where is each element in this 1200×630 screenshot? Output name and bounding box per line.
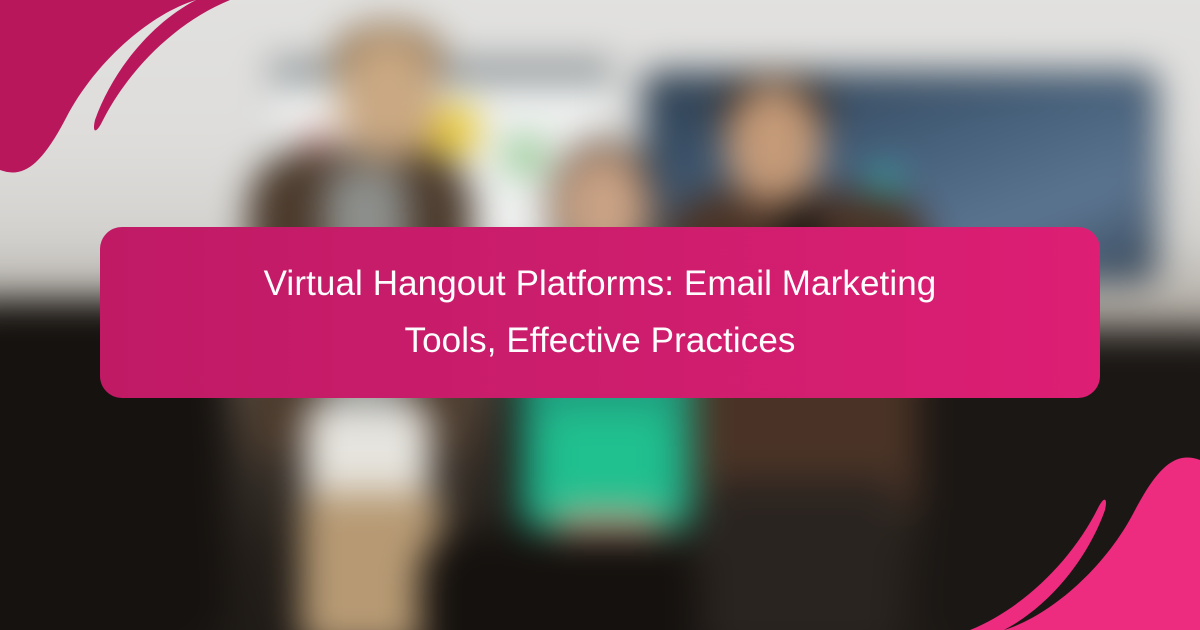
- person-left-head: [337, 34, 439, 159]
- share-card-canvas: Virtual Hangout Platforms: Email Marketi…: [0, 0, 1200, 630]
- page-title: Virtual Hangout Platforms: Email Marketi…: [166, 256, 1034, 369]
- title-banner: Virtual Hangout Platforms: Email Marketi…: [100, 227, 1100, 398]
- person-right-head: [725, 85, 823, 204]
- person-right-legs: [706, 479, 897, 630]
- whiteboard-note-green: [507, 138, 543, 174]
- foreground-shadow-center: [420, 532, 696, 630]
